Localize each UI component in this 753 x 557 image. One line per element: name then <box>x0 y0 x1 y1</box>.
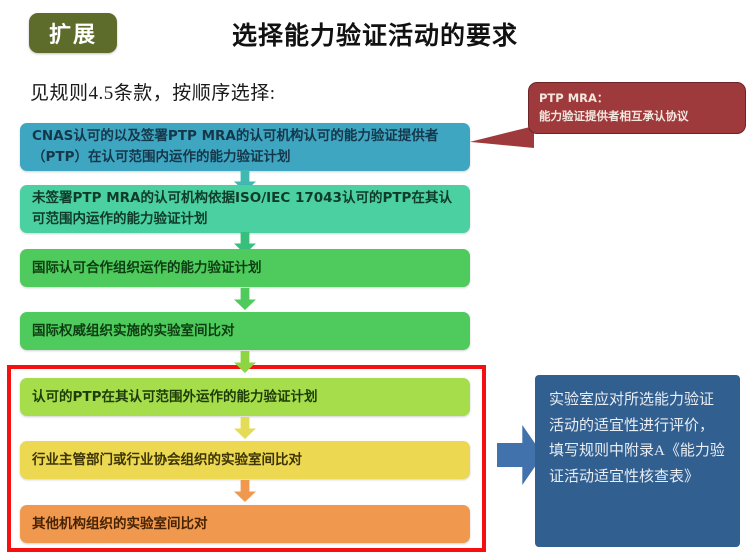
page-title: 选择能力验证活动的要求 <box>190 16 560 52</box>
extension-badge: 扩展 <box>29 13 117 53</box>
flow-step-7[interactable]: 其他机构组织的实验室间比对 <box>20 505 470 543</box>
flow-step-1[interactable]: CNAS认可的以及签署PTP MRA的认可机构认可的能力验证提供者（PTP）在认… <box>20 123 470 171</box>
callout-line-2: 能力验证提供者相互承认协议 <box>539 107 735 125</box>
flow-step-2[interactable]: 未签署PTP MRA的认可机构依据ISO/IEC 17043认可的PTP在其认可… <box>20 185 470 233</box>
flow-step-5[interactable]: 认可的PTP在其认可范围外运作的能力验证计划 <box>20 378 470 416</box>
flow-step-4[interactable]: 国际权威组织实施的实验室间比对 <box>20 312 470 350</box>
callout-line-1: PTP MRA： <box>539 89 735 107</box>
down-arrow-icon-3 <box>234 288 256 310</box>
conclusion-box: 实验室应对所选能力验证活动的适宜性进行评价，填写规则中附录A《能力验证活动适宜性… <box>535 375 740 547</box>
flow-step-3[interactable]: 国际认可合作组织运作的能力验证计划 <box>20 249 470 287</box>
flow-step-6[interactable]: 行业主管部门或行业协会组织的实验室间比对 <box>20 441 470 479</box>
callout-ptp-mra: PTP MRA： 能力验证提供者相互承认协议 <box>528 82 746 134</box>
subtitle-text: 见规则4.5条款，按顺序选择: <box>30 78 276 105</box>
callout-tail-icon <box>470 126 534 148</box>
